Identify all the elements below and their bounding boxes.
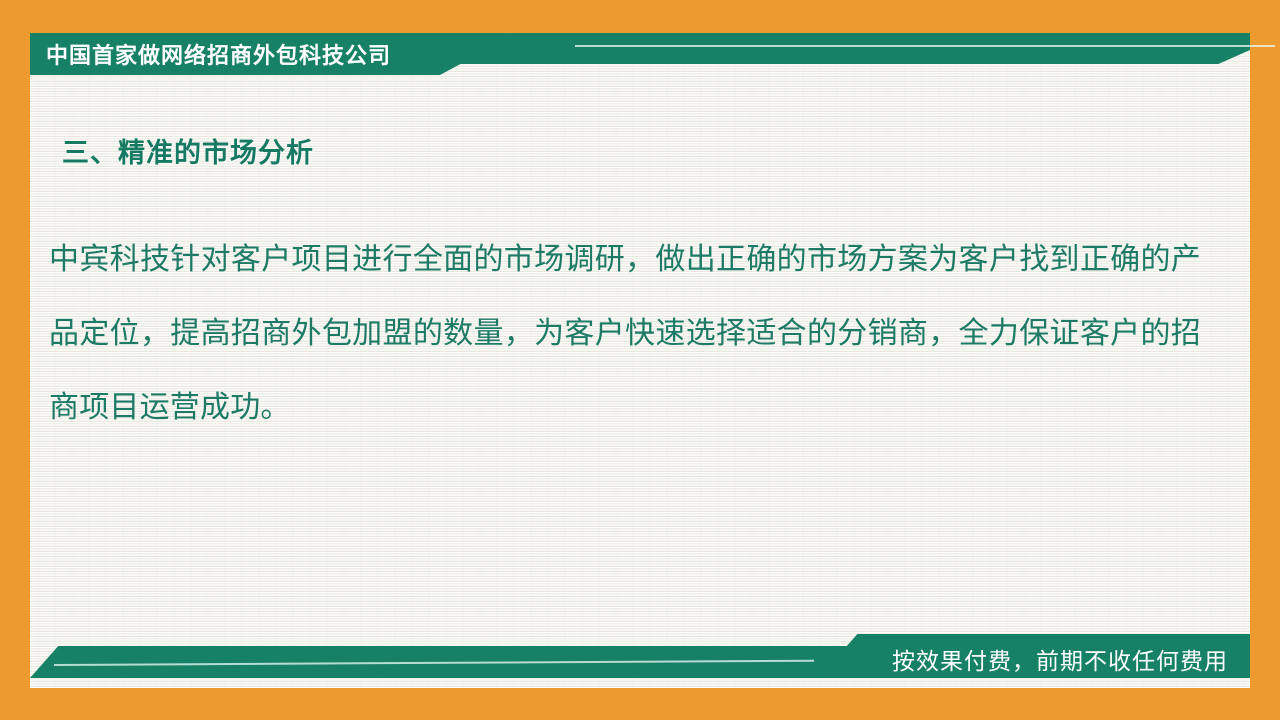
- body-paragraph: 中宾科技针对客户项目进行全面的市场调研，做出正确的市场方案为客户找到正确的产品定…: [49, 223, 1201, 445]
- slide-canvas: 中国首家做网络招商外包科技公司 三、精准的市场分析 中宾科技针对客户项目进行全面…: [0, 0, 1280, 720]
- slide-content: 三、精准的市场分析 中宾科技针对客户项目进行全面的市场调研，做出正确的市场方案为…: [30, 75, 1250, 620]
- section-heading: 三、精准的市场分析: [62, 131, 314, 170]
